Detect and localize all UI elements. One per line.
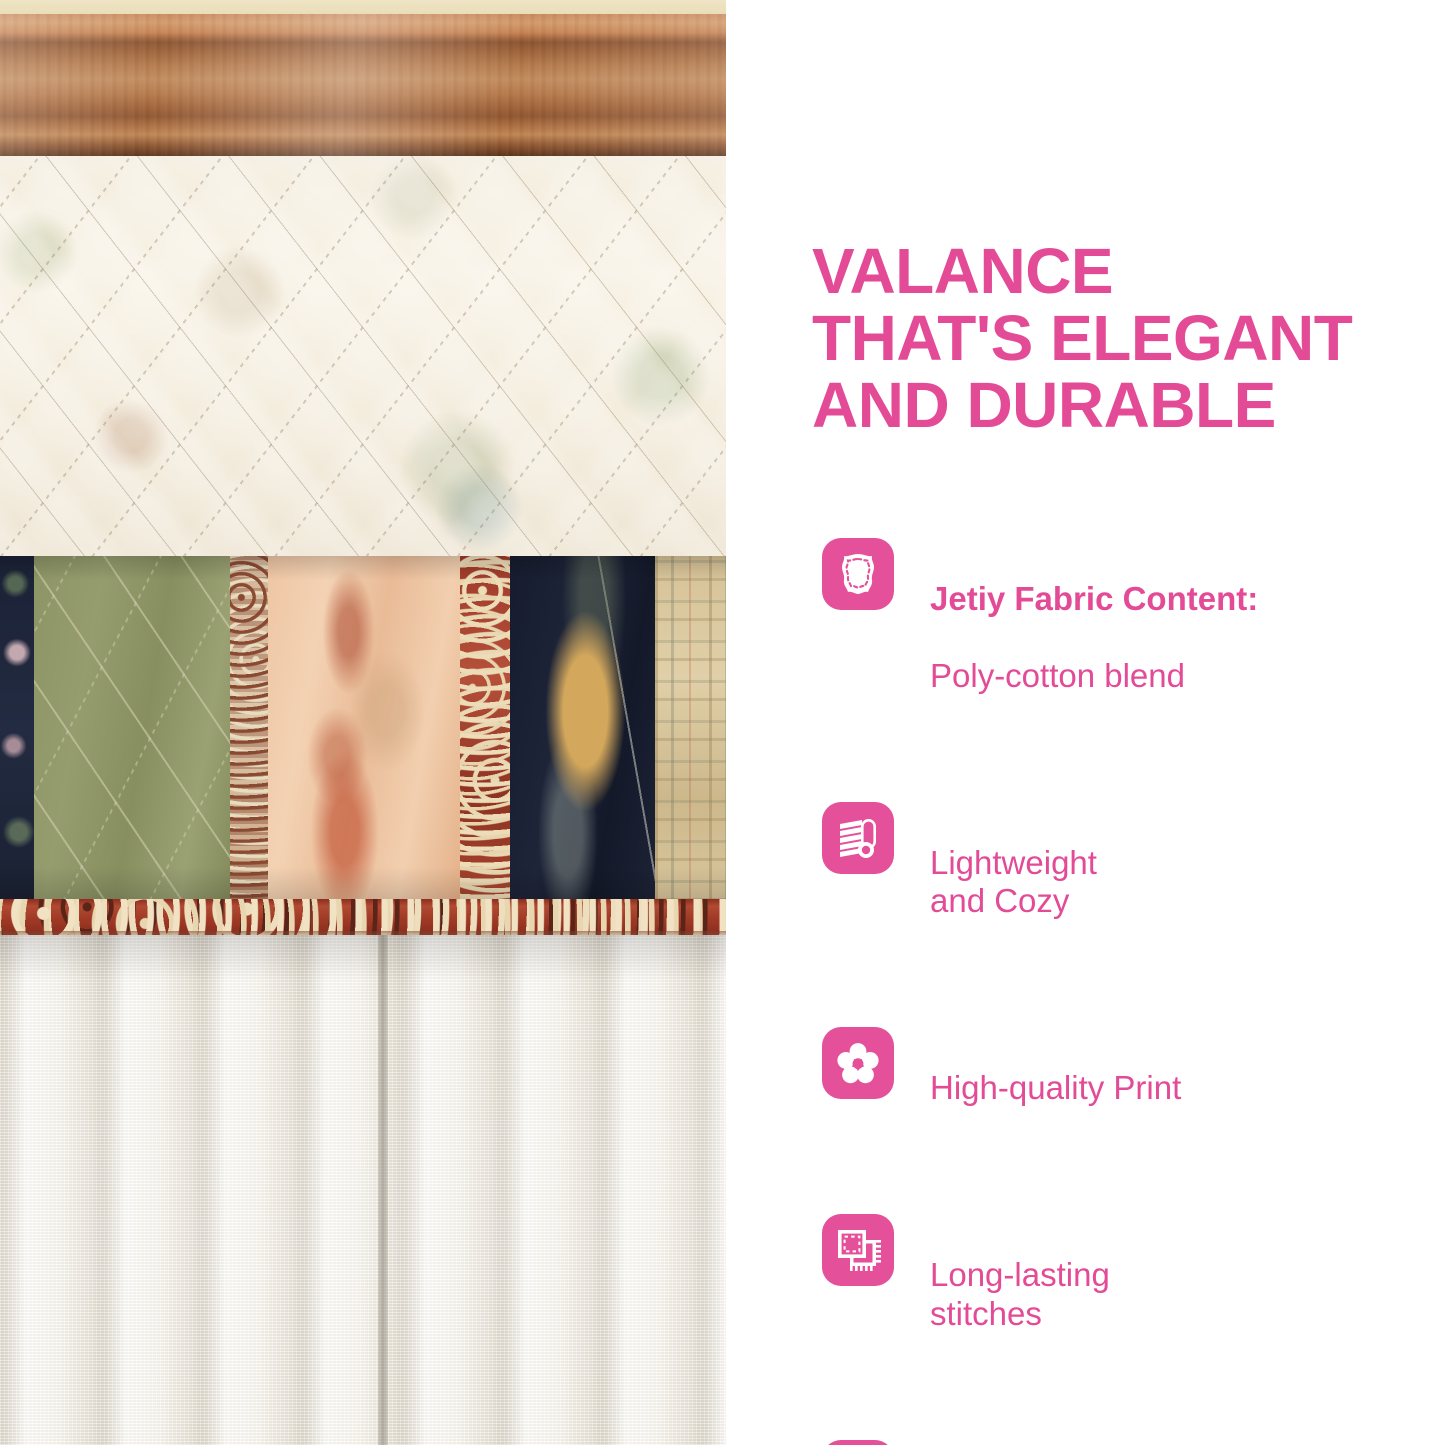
stitched-layers-icon [822,1214,894,1286]
curtain-top-shadow [0,935,726,1445]
info-panel: VALANCE THAT'S ELEGANT AND DURABLE Jetiy… [726,0,1445,1445]
feature-text: High-quality Print [930,1027,1181,1146]
feature-text: Lightweight and Cozy [930,802,1097,959]
feature-lead: Jetiy Fabric Content: [930,580,1258,619]
fabric-roll-icon [822,802,894,874]
leather-hide-icon [822,538,894,610]
feature-item: Long-lasting stitches [822,1214,1432,1371]
up-arrows-icon [822,1440,894,1445]
patch-peach-floral [268,556,460,901]
sheer-linen-curtain [0,935,726,1445]
quilted-valance-panel [0,156,726,556]
patch-rust-border [460,556,510,901]
infographic-canvas: VALANCE THAT'S ELEGANT AND DURABLE Jetiy… [0,0,1445,1445]
headline: VALANCE THAT'S ELEGANT AND DURABLE [812,238,1412,439]
flower-icon [822,1027,894,1099]
feature-sub: High-quality Print [930,1069,1181,1108]
quilt-diamond-stitching [0,156,726,556]
patch-sage-green [34,556,230,901]
feature-text: Long-lasting stitches [930,1214,1110,1371]
feature-item: Lightweight and Cozy [822,802,1432,959]
rust-floral-binding [0,899,726,935]
patch-navy-floral [0,556,34,901]
wood-cornice [0,14,726,156]
product-photo [0,0,726,1445]
feature-sub: Poly-cotton blend [930,657,1258,696]
feature-text: Fade-Resistant Colors [930,1440,1154,1445]
patchwork-strip [0,556,726,901]
feature-item: Jetiy Fabric Content: Poly-cotton blend [822,538,1432,734]
feature-item: High-quality Print [822,1027,1432,1146]
feature-sub: Long-lasting stitches [930,1256,1110,1333]
wood-sheen [0,14,726,156]
feature-text: Jetiy Fabric Content: Poly-cotton blend [930,538,1258,734]
feature-sub: Lightweight and Cozy [930,844,1097,921]
patch-rust-cream-print [230,556,268,901]
feature-item: Fade-Resistant Colors [822,1440,1432,1445]
patch-navy-gold-leaf [510,556,655,901]
feature-list: Jetiy Fabric Content: Poly-cotton blend [822,538,1432,1445]
patch-tan-plaid [655,556,726,901]
